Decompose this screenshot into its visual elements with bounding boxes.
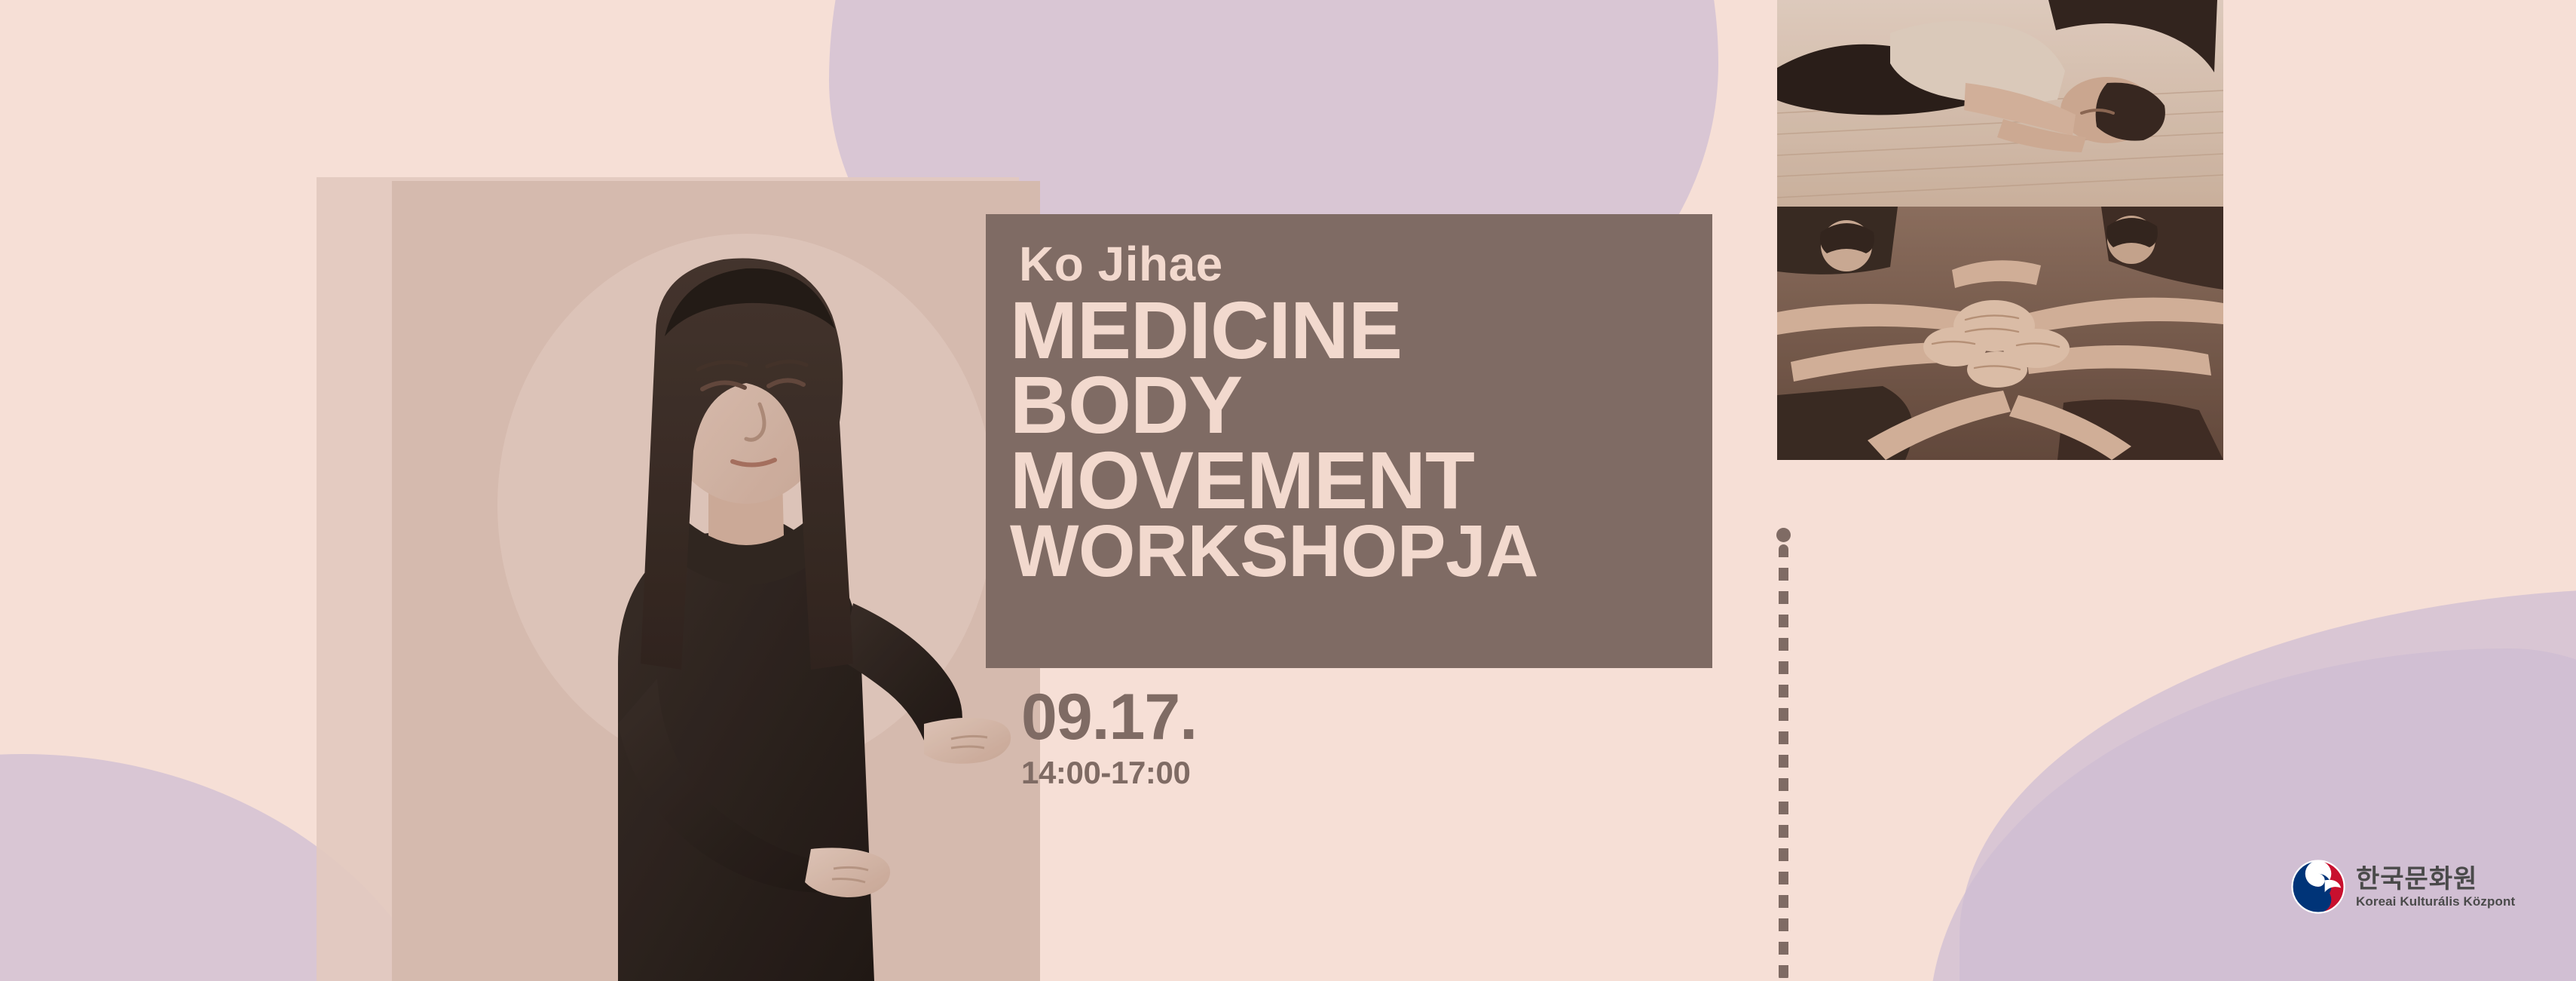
headline-line-2: BODY xyxy=(1010,367,1712,442)
portrait-photo xyxy=(392,181,1040,981)
poster-canvas: Ko Jihae MEDICINE BODY MOVEMENT WORKSHOP… xyxy=(0,0,2576,981)
logo-hungarian-name: Koreai Kulturális Központ xyxy=(2356,895,2515,908)
purple-blob-bottom-right xyxy=(1960,588,2576,981)
workshop-photo-top-canvas xyxy=(1777,0,2223,207)
workshop-photo-bottom-canvas xyxy=(1777,207,2223,460)
logo-wordmark: 한국문화원 Koreai Kulturális Központ xyxy=(2356,866,2515,908)
event-date: 09.17. xyxy=(1021,685,1197,750)
presenter-name: Ko Jihae xyxy=(1019,240,1712,288)
logo-korean-name: 한국문화원 xyxy=(2356,866,2515,892)
headline-line-3: MOVEMENT xyxy=(1010,443,1712,517)
vertical-dashed-divider xyxy=(1779,544,1788,981)
headline-line-4: WORKSHOPJA xyxy=(1010,517,1712,584)
dashed-rule-dot-cap xyxy=(1776,528,1791,542)
event-time: 14:00-17:00 xyxy=(1021,757,1197,789)
headline-line-1: MEDICINE xyxy=(1010,293,1712,367)
headline-panel: Ko Jihae MEDICINE BODY MOVEMENT WORKSHOP… xyxy=(986,214,1712,668)
taegeuk-government-emblem-icon xyxy=(2291,860,2345,914)
workshop-photo-stack xyxy=(1777,0,2223,460)
portrait-canvas xyxy=(392,181,1040,981)
workshop-photo-bottom xyxy=(1777,207,2223,460)
korean-cultural-center-logo: 한국문화원 Koreai Kulturális Központ xyxy=(2291,860,2515,914)
schedule-block: 09.17. 14:00-17:00 xyxy=(1021,685,1197,789)
purple-blob-bottom-right-secondary xyxy=(1929,648,2576,981)
headline-title: MEDICINE BODY MOVEMENT WORKSHOPJA xyxy=(1010,293,1712,584)
workshop-photo-top xyxy=(1777,0,2223,207)
